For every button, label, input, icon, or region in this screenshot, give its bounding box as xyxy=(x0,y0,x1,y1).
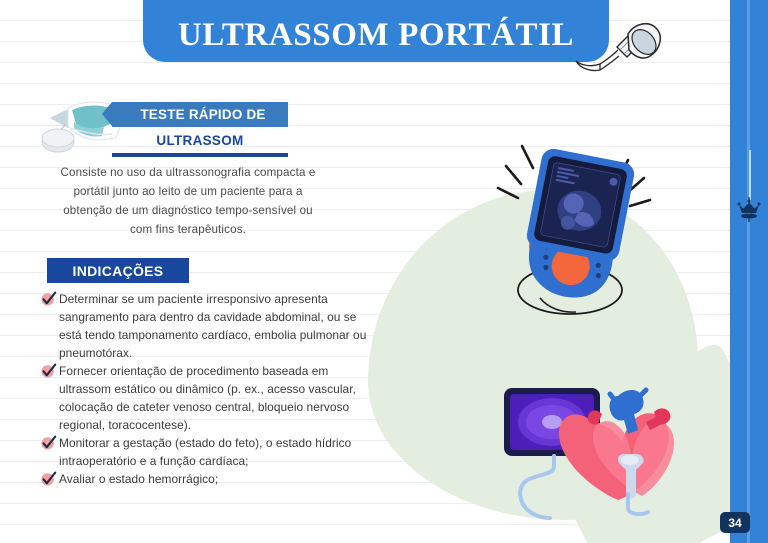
page-canvas: ULTRASSOM PORTÁTIL TESTE RÁPIDO DE ULTRA… xyxy=(0,0,768,543)
heart-ultrasound-monitor-illustration xyxy=(498,378,706,523)
subtitle-underline xyxy=(112,153,288,157)
portable-ultrasound-device-illustration xyxy=(478,138,668,323)
list-item: Determinar se um paciente irresponsivo a… xyxy=(40,290,380,362)
check-circle-icon xyxy=(40,435,58,451)
right-side-bar-stripe xyxy=(747,0,750,543)
subtitle-block: TESTE RÁPIDO DE ULTRASSOM xyxy=(112,102,288,157)
list-item: Monitorar a gestação (estado do feto), o… xyxy=(40,434,380,470)
page-title: ULTRASSOM PORTÁTIL xyxy=(178,17,574,54)
subtitle-badge-label: TESTE RÁPIDO DE xyxy=(140,107,265,122)
check-circle-icon xyxy=(40,471,58,487)
list-item-label: Determinar se um paciente irresponsivo a… xyxy=(59,292,366,360)
crown-ornament-icon xyxy=(736,193,762,223)
indications-list: Determinar se um paciente irresponsivo a… xyxy=(40,290,380,488)
indications-heading-badge: INDICAÇÕES xyxy=(47,258,189,283)
check-circle-icon xyxy=(40,291,58,307)
page-number-badge: 34 xyxy=(720,512,750,533)
list-item-label: Fornecer orientação de procedimento base… xyxy=(59,364,356,432)
check-circle-icon xyxy=(40,363,58,379)
list-item: Fornecer orientação de procedimento base… xyxy=(40,362,380,434)
list-item-label: Monitorar a gestação (estado do feto), o… xyxy=(59,436,351,468)
page-number: 34 xyxy=(728,516,741,530)
subtitle-badge-primary: TESTE RÁPIDO DE xyxy=(112,102,288,127)
indications-heading-label: INDICAÇÕES xyxy=(73,263,164,279)
intro-paragraph: Consiste no uso da ultrassonografia comp… xyxy=(54,163,322,239)
ultrasound-probe-icon xyxy=(556,14,668,86)
subtitle-secondary-label: ULTRASSOM xyxy=(112,127,288,148)
list-item-label: Avaliar o estado hemorrágico; xyxy=(59,472,218,486)
page-title-banner: ULTRASSOM PORTÁTIL xyxy=(143,0,609,62)
list-item: Avaliar o estado hemorrágico; xyxy=(40,470,380,488)
